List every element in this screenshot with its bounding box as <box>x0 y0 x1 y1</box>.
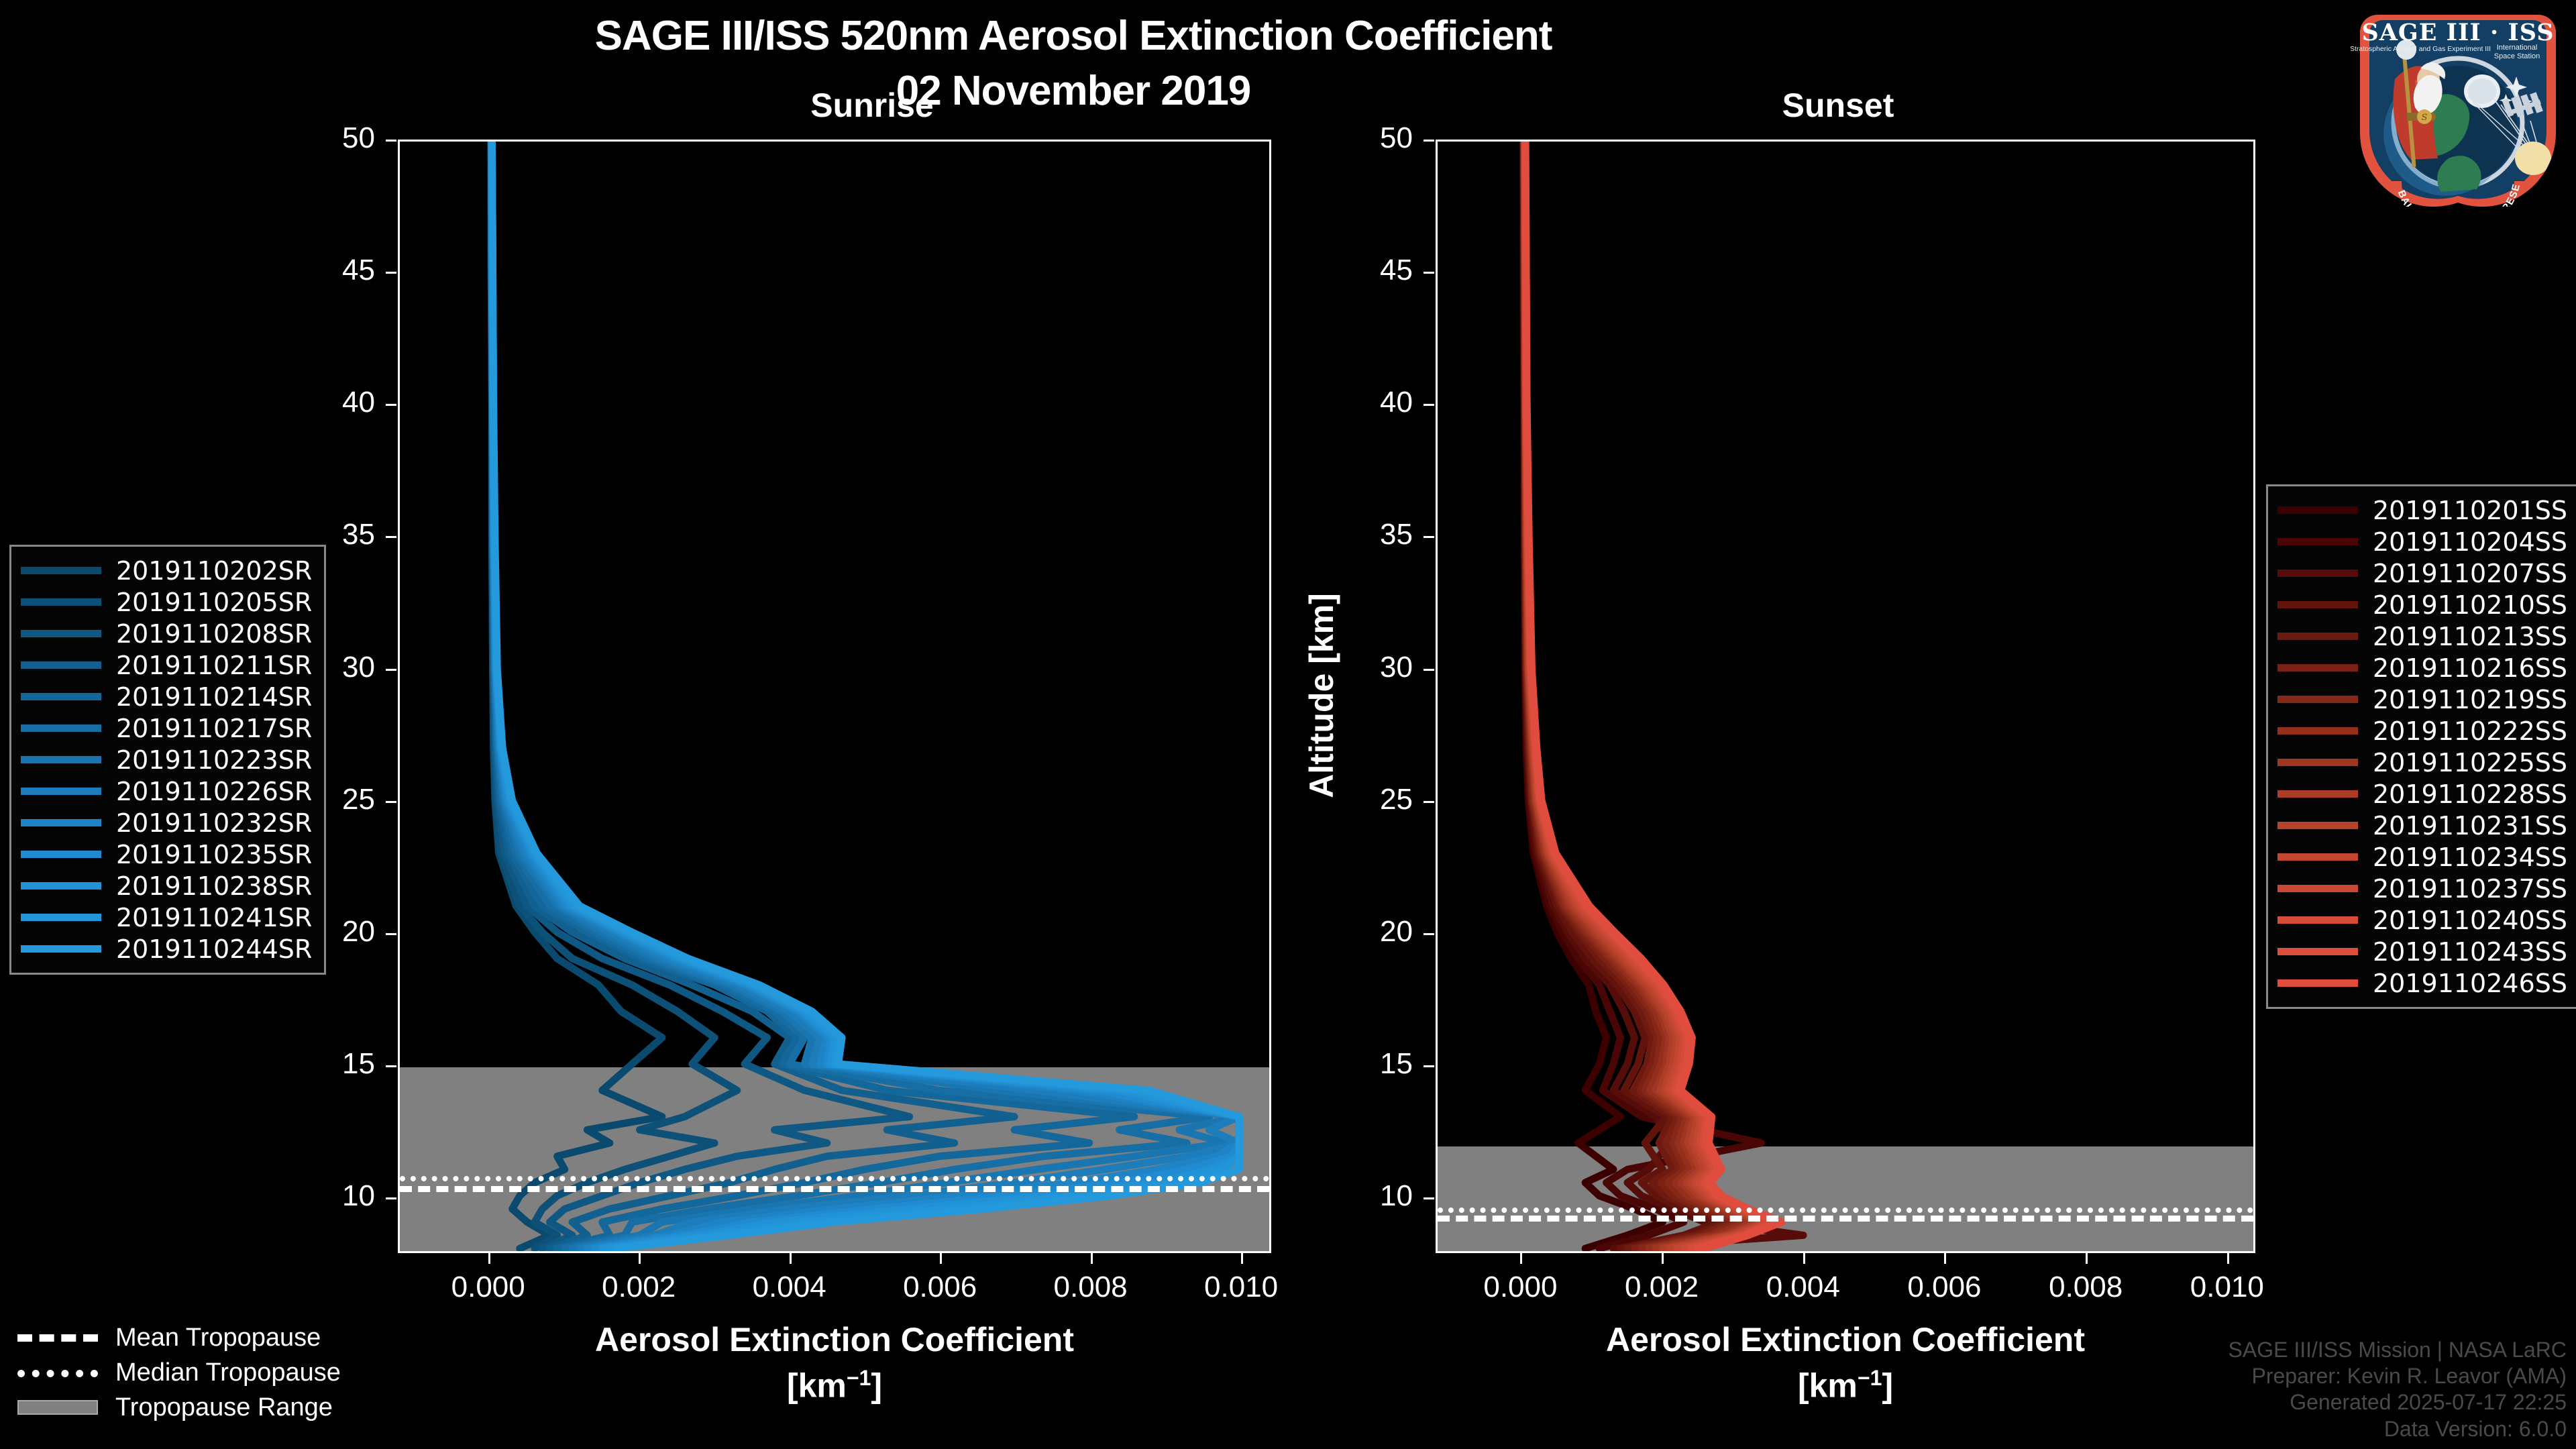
plot-area-sunset <box>1436 140 2255 1253</box>
legend-color-swatch <box>2277 790 2358 798</box>
legend-color-swatch <box>21 630 101 637</box>
y-tick-mark <box>1424 669 1434 671</box>
y-tick-mark <box>1424 801 1434 803</box>
x-axis-title: Aerosol Extinction Coefficient <box>1544 1320 2147 1359</box>
legend-item-label: 2019110235SR <box>116 840 312 869</box>
legend-item[interactable]: 2019110226SR <box>21 775 312 807</box>
y-tick-label: 40 <box>274 386 375 419</box>
legend-color-swatch <box>2277 759 2358 766</box>
legend-color-swatch <box>2277 979 2358 987</box>
tropopause-mean-line <box>400 1186 1269 1192</box>
legend-item-label: 2019110244SR <box>116 934 312 964</box>
legend-tropopause: Mean TropopauseMedian TropopauseTropopau… <box>17 1320 341 1425</box>
y-tick-mark <box>1424 1065 1434 1067</box>
y-tick-label: 45 <box>1312 254 1413 287</box>
legend-item[interactable]: 2019110207SS <box>2277 557 2567 589</box>
y-tick-mark <box>1424 404 1434 406</box>
legend-item-label: 2019110223SR <box>116 745 312 775</box>
legend-item[interactable]: 2019110243SS <box>2277 936 2567 967</box>
legend-item[interactable]: 2019110219SS <box>2277 684 2567 715</box>
y-tick-mark <box>1424 272 1434 274</box>
legend-item-label: 2019110241SR <box>116 903 312 932</box>
legend-item[interactable]: 2019110208SR <box>21 618 312 649</box>
y-tick-label: 20 <box>1312 915 1413 949</box>
x-tick-mark <box>2227 1253 2229 1264</box>
profile-curves <box>400 142 1269 1251</box>
legend-item-label: 2019110243SS <box>2373 937 2567 967</box>
x-axis-units: [km−1] <box>533 1366 1136 1405</box>
tropopause-legend-label: Mean Tropopause <box>115 1324 321 1352</box>
tropopause-median-line <box>1438 1207 2253 1213</box>
legend-item[interactable]: 2019110237SS <box>2277 873 2567 904</box>
x-tick-mark <box>1803 1253 1805 1264</box>
legend-color-swatch <box>21 693 101 700</box>
y-tick-mark <box>386 933 396 935</box>
legend-color-swatch <box>21 661 101 669</box>
legend-item[interactable]: 2019110241SR <box>21 902 312 933</box>
x-tick-label: 0.004 <box>1723 1271 1884 1304</box>
legend-color-swatch <box>2277 633 2358 640</box>
legend-item[interactable]: 2019110205SR <box>21 586 312 618</box>
legend-item-label: 2019110213SS <box>2373 622 2567 651</box>
legend-item[interactable]: 2019110225SS <box>2277 747 2567 778</box>
legend-item-label: 2019110234SS <box>2373 843 2567 872</box>
legend-item[interactable]: 2019110244SR <box>21 933 312 965</box>
legend-item-label: 2019110217SR <box>116 714 312 743</box>
page-title: SAGE III/ISS 520nm Aerosol Extinction Co… <box>0 12 2147 60</box>
x-tick-label: 0.008 <box>2005 1271 2166 1304</box>
legend-item-label: 2019110205SR <box>116 588 312 617</box>
legend-item-label: 2019110240SS <box>2373 906 2567 935</box>
x-tick-label: 0.006 <box>859 1271 1020 1304</box>
tropopause-legend-glyph <box>17 1400 98 1415</box>
legend-item-label: 2019110232SR <box>116 808 312 838</box>
legend-item[interactable]: 2019110223SR <box>21 744 312 775</box>
legend-item[interactable]: 2019110231SS <box>2277 810 2567 841</box>
credits-block: SAGE III/ISS Mission | NASA LaRCPreparer… <box>2229 1337 2567 1442</box>
legend-item-label: 2019110216SS <box>2373 653 2567 683</box>
legend-item[interactable]: 2019110222SS <box>2277 715 2567 747</box>
series-line <box>491 142 662 1248</box>
legend-item[interactable]: 2019110204SS <box>2277 526 2567 557</box>
x-tick-mark <box>1091 1253 1093 1264</box>
legend-sunrise[interactable]: 2019110202SR2019110205SR2019110208SR2019… <box>9 545 326 975</box>
y-tick-mark <box>386 140 396 142</box>
legend-item-label: 2019110201SS <box>2373 496 2567 525</box>
y-tick-label: 10 <box>274 1179 375 1213</box>
x-tick-label: 0.004 <box>709 1271 870 1304</box>
svg-text:Stratospheric Aerosol and Gas: Stratospheric Aerosol and Gas Experiment… <box>2351 45 2491 53</box>
legend-item-label: 2019110211SR <box>116 651 312 680</box>
legend-color-swatch <box>21 598 101 606</box>
legend-color-swatch <box>2277 916 2358 924</box>
y-tick-mark <box>386 272 396 274</box>
tropopause-legend-item: Mean Tropopause <box>17 1320 341 1355</box>
profile-curves <box>1438 142 2253 1251</box>
legend-item-label: 2019110237SS <box>2373 874 2567 904</box>
x-tick-label: 0.008 <box>1010 1271 1171 1304</box>
svg-text:Space Station: Space Station <box>2494 52 2540 60</box>
x-tick-label: 0.010 <box>2147 1271 2308 1304</box>
panel-subtitle-sunset: Sunset <box>1637 86 2039 125</box>
legend-color-swatch <box>2277 570 2358 577</box>
svg-text:International: International <box>2497 44 2538 52</box>
legend-color-swatch <box>21 945 101 953</box>
legend-item-label: 2019110226SR <box>116 777 312 806</box>
y-tick-mark <box>386 536 396 538</box>
legend-color-swatch <box>21 914 101 921</box>
legend-item[interactable]: 2019110210SS <box>2277 589 2567 621</box>
tropopause-legend-key-median <box>17 1365 98 1380</box>
y-tick-mark <box>1424 1197 1434 1199</box>
x-axis-units: [km−1] <box>1544 1366 2147 1405</box>
legend-item-label: 2019110202SR <box>116 556 312 586</box>
legend-color-swatch <box>21 567 101 574</box>
x-tick-mark <box>1944 1253 1946 1264</box>
sage-iii-iss-mission-patch-icon: S SAGE III · ISS Stratospheric Aerosol a… <box>2351 5 2565 207</box>
legend-item-label: 2019110210SS <box>2373 590 2567 620</box>
legend-item[interactable]: 2019110201SS <box>2277 494 2567 526</box>
x-tick-mark <box>1520 1253 1522 1264</box>
legend-item[interactable]: 2019110238SR <box>21 870 312 902</box>
credit-line: SAGE III/ISS Mission | NASA LaRC <box>2229 1337 2567 1363</box>
legend-color-swatch <box>21 724 101 732</box>
y-tick-mark <box>1424 933 1434 935</box>
x-tick-label: 0.000 <box>1440 1271 1601 1304</box>
legend-color-swatch <box>21 851 101 858</box>
legend-item-label: 2019110246SS <box>2373 969 2567 998</box>
legend-color-swatch <box>2277 538 2358 545</box>
legend-item[interactable]: 2019110240SS <box>2277 904 2567 936</box>
legend-item[interactable]: 2019110211SR <box>21 649 312 681</box>
legend-sunset[interactable]: 2019110201SS2019110204SS2019110207SS2019… <box>2266 484 2576 1009</box>
x-tick-mark <box>1662 1253 1664 1264</box>
legend-item-label: 2019110231SS <box>2373 811 2567 841</box>
tropopause-legend-label: Tropopause Range <box>115 1393 333 1422</box>
credit-line: Generated 2025-07-17 22:25 <box>2229 1389 2567 1415</box>
legend-item[interactable]: 2019110213SS <box>2277 621 2567 652</box>
tropopause-legend-item: Tropopause Range <box>17 1390 341 1425</box>
legend-color-swatch <box>2277 853 2358 861</box>
credit-line: Data Version: 6.0.0 <box>2229 1416 2567 1442</box>
y-tick-label: 45 <box>274 254 375 287</box>
legend-item-label: 2019110238SR <box>116 871 312 901</box>
svg-text:SAGE III · ISS: SAGE III · ISS <box>2361 19 2554 46</box>
y-tick-label: 10 <box>1312 1179 1413 1213</box>
x-tick-mark <box>488 1253 490 1264</box>
tropopause-median-line <box>400 1176 1269 1181</box>
legend-item[interactable]: 2019110228SS <box>2277 778 2567 810</box>
legend-item[interactable]: 2019110235SR <box>21 839 312 870</box>
y-tick-mark <box>386 801 396 803</box>
legend-item-label: 2019110222SS <box>2373 716 2567 746</box>
legend-item-label: 2019110204SS <box>2373 527 2567 557</box>
legend-item-label: 2019110219SS <box>2373 685 2567 714</box>
plot-area-sunrise <box>398 140 1271 1253</box>
legend-color-swatch <box>2277 506 2358 514</box>
x-tick-label: 0.002 <box>558 1271 719 1304</box>
credit-line: Preparer: Kevin R. Leavor (AMA) <box>2229 1363 2567 1389</box>
y-tick-mark <box>1424 140 1434 142</box>
y-tick-mark <box>386 1065 396 1067</box>
legend-item-label: 2019110207SS <box>2373 559 2567 588</box>
legend-color-swatch <box>2277 822 2358 829</box>
tropopause-legend-item: Median Tropopause <box>17 1355 341 1390</box>
y-tick-label: 40 <box>1312 386 1413 419</box>
legend-color-swatch <box>21 756 101 763</box>
legend-color-swatch <box>2277 948 2358 955</box>
legend-color-swatch <box>21 819 101 826</box>
x-tick-mark <box>639 1253 641 1264</box>
y-tick-label: 50 <box>1312 121 1413 155</box>
legend-item[interactable]: 2019110214SR <box>21 681 312 712</box>
legend-item[interactable]: 2019110217SR <box>21 712 312 744</box>
legend-item[interactable]: 2019110216SS <box>2277 652 2567 684</box>
legend-item-label: 2019110225SS <box>2373 748 2567 777</box>
tropopause-mean-line <box>1438 1216 2253 1222</box>
legend-item[interactable]: 2019110232SR <box>21 807 312 839</box>
tropopause-legend-key-mean <box>17 1330 98 1345</box>
x-axis-title: Aerosol Extinction Coefficient <box>533 1320 1136 1359</box>
y-tick-label: 15 <box>274 1047 375 1081</box>
x-tick-label: 0.006 <box>1864 1271 2025 1304</box>
y-tick-mark <box>386 669 396 671</box>
x-tick-label: 0.000 <box>408 1271 569 1304</box>
legend-color-swatch <box>21 882 101 890</box>
x-tick-mark <box>2086 1253 2088 1264</box>
x-tick-label: 0.010 <box>1161 1271 1322 1304</box>
y-tick-mark <box>386 1197 396 1199</box>
legend-color-swatch <box>2277 696 2358 703</box>
legend-color-swatch <box>21 788 101 795</box>
legend-color-swatch <box>2277 885 2358 892</box>
legend-item-label: 2019110208SR <box>116 619 312 649</box>
legend-item-label: 2019110228SS <box>2373 780 2567 809</box>
y-axis-title: Altitude [km] <box>1302 521 1341 870</box>
y-tick-mark <box>386 404 396 406</box>
y-tick-label: 15 <box>1312 1047 1413 1081</box>
legend-color-swatch <box>2277 727 2358 735</box>
tropopause-legend-label: Median Tropopause <box>115 1358 341 1387</box>
tropopause-legend-glyph <box>17 1334 98 1342</box>
tropopause-legend-key-range <box>17 1400 98 1415</box>
panel-subtitle-sunrise: Sunrise <box>671 86 1073 125</box>
legend-item[interactable]: 2019110202SR <box>21 555 312 586</box>
legend-color-swatch <box>2277 664 2358 672</box>
y-tick-mark <box>1424 536 1434 538</box>
x-tick-label: 0.002 <box>1581 1271 1742 1304</box>
x-tick-mark <box>940 1253 942 1264</box>
y-tick-label: 50 <box>274 121 375 155</box>
svg-text:S: S <box>2422 113 2428 123</box>
x-tick-mark <box>1241 1253 1243 1264</box>
tropopause-legend-glyph <box>17 1370 98 1377</box>
x-tick-mark <box>790 1253 792 1264</box>
legend-item-label: 2019110214SR <box>116 682 312 712</box>
legend-item[interactable]: 2019110234SS <box>2277 841 2567 873</box>
legend-item[interactable]: 2019110246SS <box>2277 967 2567 999</box>
legend-color-swatch <box>2277 601 2358 608</box>
